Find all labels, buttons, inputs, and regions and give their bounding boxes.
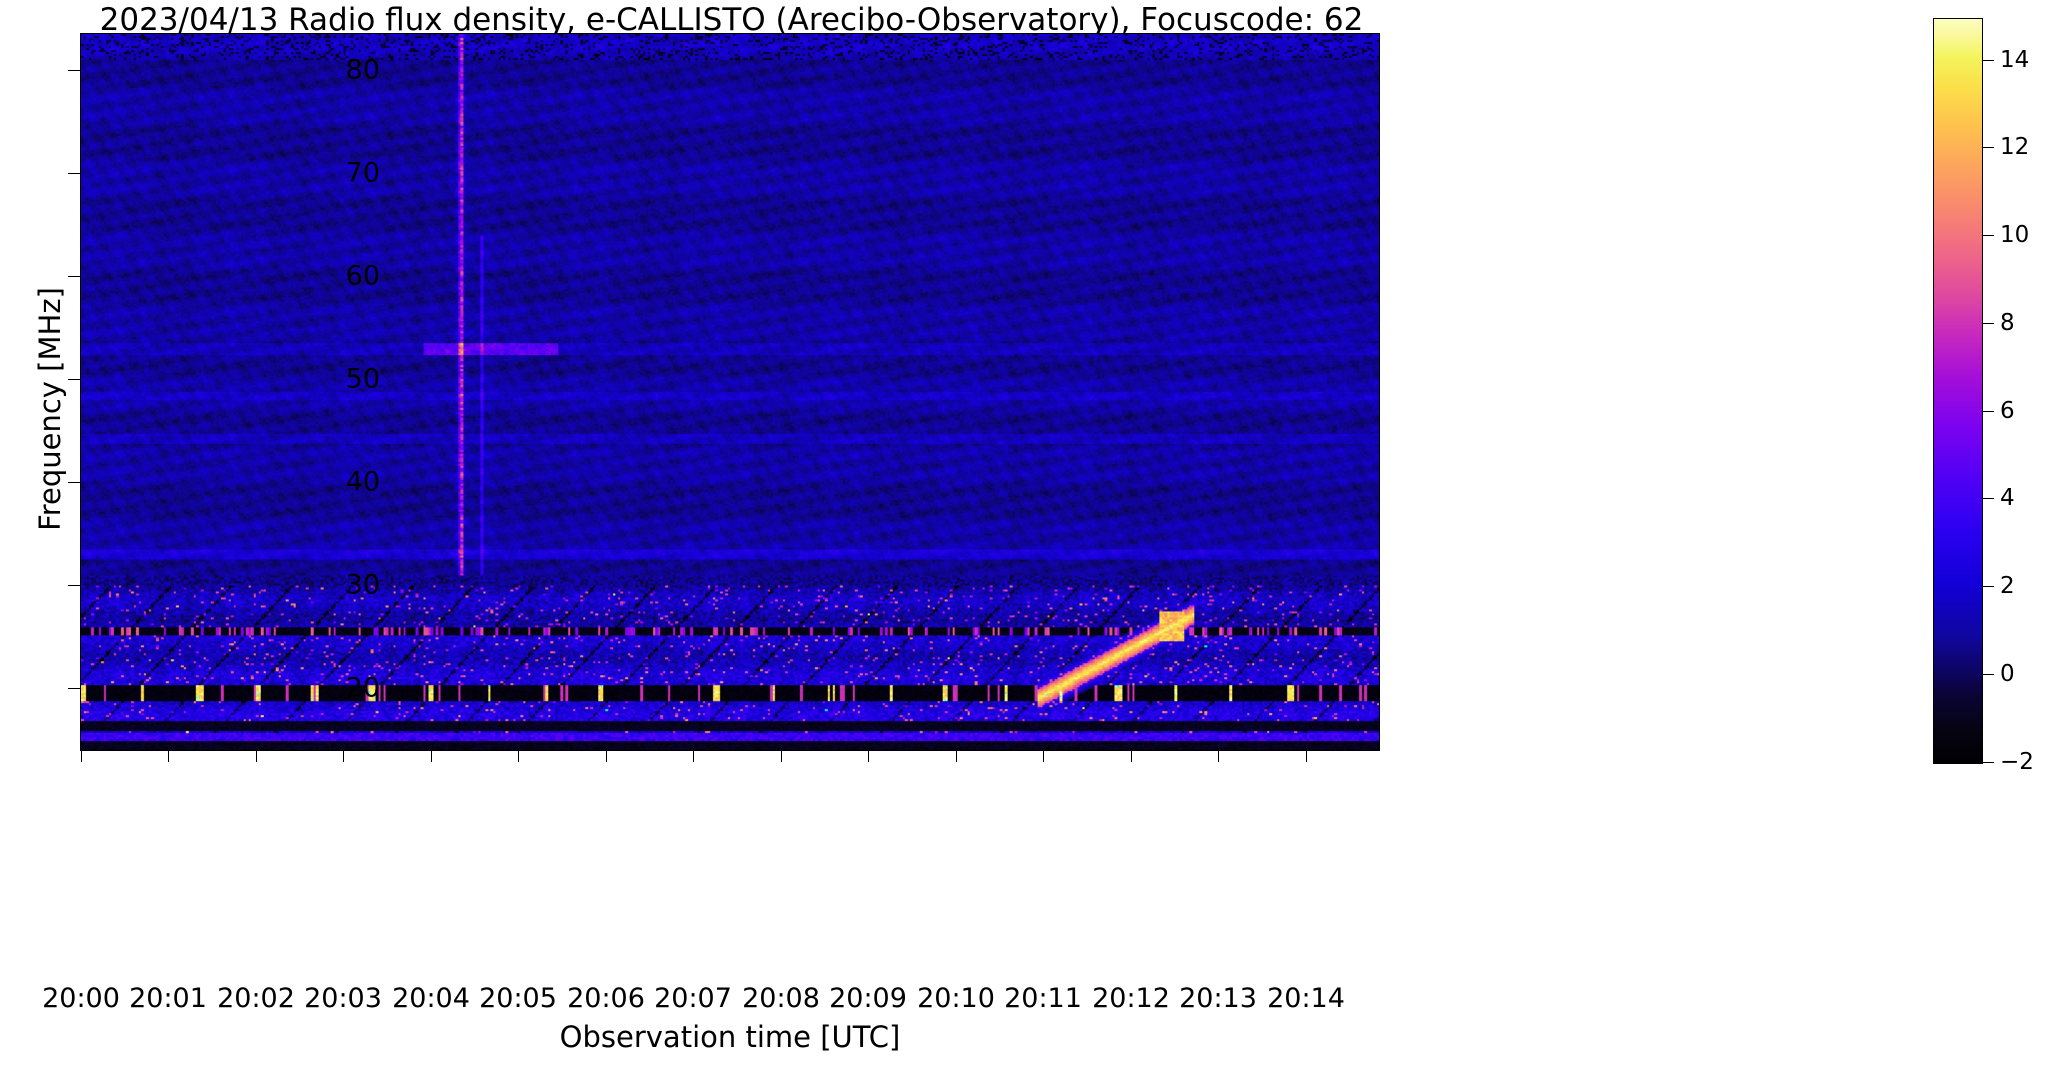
colorbar-tick-mark	[1983, 323, 1994, 324]
colorbar-tick-label: 10	[2000, 222, 2029, 248]
x-tick-label: 20:05	[479, 983, 557, 1014]
x-tick-label: 20:02	[217, 983, 295, 1014]
x-tick-label: 20:14	[1267, 983, 1345, 1014]
y-tick-mark	[68, 276, 80, 277]
x-tick-mark	[606, 751, 607, 762]
y-axis-title: Frequency [MHz]	[33, 29, 67, 789]
x-tick-label: 20:04	[392, 983, 470, 1014]
y-tick-mark	[68, 482, 80, 483]
x-tick-label: 20:08	[742, 983, 820, 1014]
x-tick-mark	[868, 751, 869, 762]
y-tick-mark	[68, 379, 80, 380]
y-tick-mark	[68, 173, 80, 174]
y-tick-label: 50	[260, 364, 380, 395]
x-tick-label: 20:09	[829, 983, 907, 1014]
x-tick-label: 20:13	[1179, 983, 1257, 1014]
y-tick-label: 40	[260, 467, 380, 498]
x-tick-mark	[518, 751, 519, 762]
colorbar-tick-label: 12	[2000, 134, 2029, 160]
x-tick-mark	[256, 751, 257, 762]
x-tick-mark	[343, 751, 344, 762]
x-tick-label: 20:12	[1092, 983, 1170, 1014]
y-tick-label: 80	[260, 55, 380, 86]
x-tick-label: 20:11	[1004, 983, 1082, 1014]
colorbar-tick-mark	[1983, 498, 1994, 499]
colorbar-tick-label: 0	[2000, 661, 2015, 687]
colorbar-tick-mark	[1983, 762, 1994, 763]
colorbar-tick-mark	[1983, 674, 1994, 675]
x-tick-label: 20:00	[42, 983, 120, 1014]
x-tick-label: 20:10	[917, 983, 995, 1014]
y-tick-label: 60	[260, 261, 380, 292]
y-tick-label: 70	[260, 158, 380, 189]
y-tick-label: 20	[260, 673, 380, 704]
x-tick-mark	[1131, 751, 1132, 762]
x-axis-title: Observation time [UTC]	[80, 1020, 1380, 1054]
colorbar-tick-mark	[1983, 586, 1994, 587]
x-tick-mark	[1306, 751, 1307, 762]
colorbar-tick-label: 6	[2000, 398, 2015, 424]
colorbar-tick-label: 8	[2000, 310, 2015, 336]
colorbar-tick-label: −2	[2000, 749, 2034, 775]
x-tick-mark	[1043, 751, 1044, 762]
x-tick-label: 20:06	[567, 983, 645, 1014]
y-tick-mark	[68, 70, 80, 71]
colorbar-tick-mark	[1983, 235, 1994, 236]
colorbar-tick-mark	[1983, 60, 1994, 61]
x-tick-label: 20:01	[129, 983, 207, 1014]
x-tick-mark	[693, 751, 694, 762]
x-tick-mark	[431, 751, 432, 762]
y-tick-mark	[68, 585, 80, 586]
x-tick-mark	[168, 751, 169, 762]
y-tick-mark	[68, 688, 80, 689]
x-tick-mark	[81, 751, 82, 762]
colorbar-tick-label: 14	[2000, 47, 2029, 73]
figure-canvas: 2023/04/13 Radio flux density, e-CALLIST…	[0, 0, 2047, 1067]
x-tick-mark	[956, 751, 957, 762]
x-tick-mark	[1218, 751, 1219, 762]
colorbar-tick-label: 2	[2000, 573, 2015, 599]
y-tick-label: 30	[260, 570, 380, 601]
x-tick-mark	[781, 751, 782, 762]
x-tick-label: 20:07	[654, 983, 732, 1014]
colorbar-tick-mark	[1983, 147, 1994, 148]
colorbar-tick-label: 4	[2000, 485, 2015, 511]
colorbar	[1933, 18, 1983, 764]
colorbar-tick-mark	[1983, 411, 1994, 412]
x-tick-label: 20:03	[304, 983, 382, 1014]
